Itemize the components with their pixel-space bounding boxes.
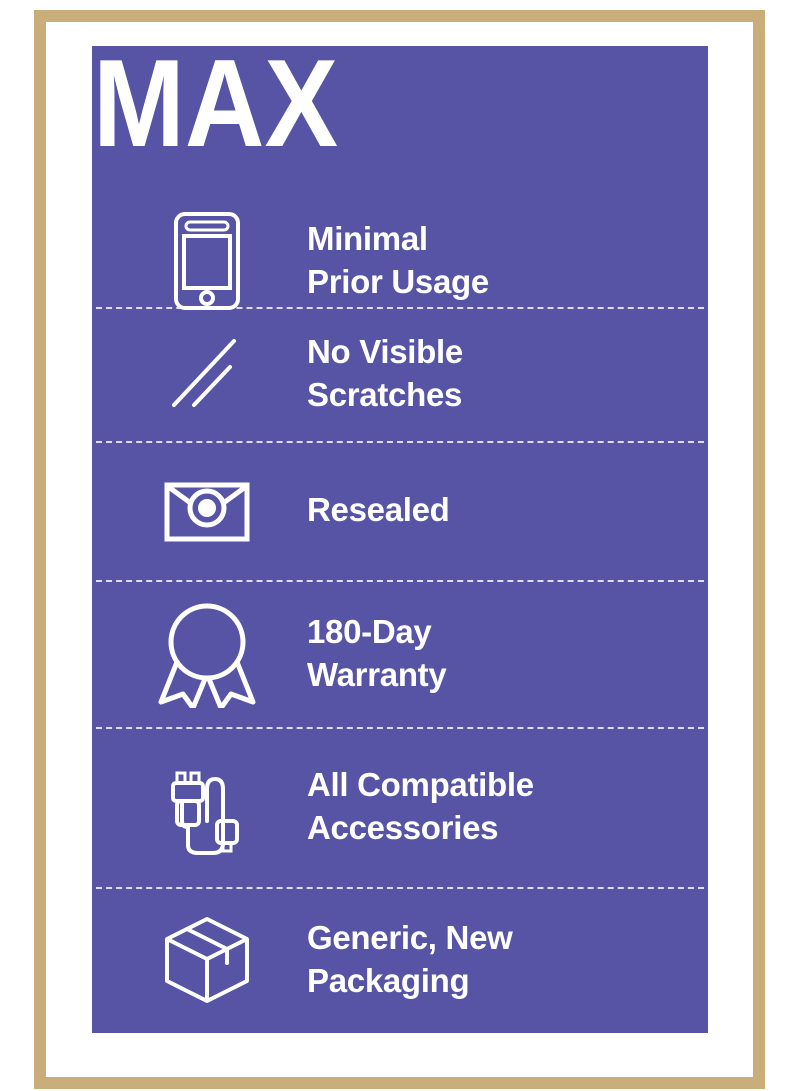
feature-icon-cell (92, 913, 307, 1007)
feature-row-no-visible-scratches: No Visible Scratches (92, 307, 708, 441)
feature-label: All Compatible Accessories (307, 764, 708, 850)
feature-label: Minimal Prior Usage (307, 218, 708, 304)
usb-cable-icon (165, 755, 249, 859)
brand-wordmark-text: MAX (93, 46, 338, 173)
brand-wordmark: MAX (93, 46, 493, 180)
scratch-lines-icon (164, 333, 250, 415)
feature-row-packaging: Generic, New Packaging (92, 887, 708, 1033)
feature-label: 180-Day Warranty (307, 611, 708, 697)
feature-label: No Visible Scratches (307, 331, 708, 417)
feature-row-accessories: All Compatible Accessories (92, 727, 708, 887)
feature-label: Resealed (307, 489, 708, 532)
purple-feature-panel: MAX Minimal Prior Usage (92, 46, 708, 1033)
feature-icon-cell (92, 475, 307, 547)
shipping-box-icon (161, 913, 253, 1007)
sealed-envelope-icon (162, 475, 252, 547)
feature-icon-cell (92, 755, 307, 859)
feature-row-warranty: 180-Day Warranty (92, 580, 708, 727)
feature-label: Generic, New Packaging (307, 917, 708, 1003)
smartphone-icon (171, 209, 243, 313)
award-ribbon-icon (153, 600, 261, 708)
feature-icon-cell (92, 209, 307, 313)
feature-icon-cell (92, 600, 307, 708)
feature-row-resealed: Resealed (92, 441, 708, 580)
feature-icon-cell (92, 333, 307, 415)
poster-canvas: MAX Minimal Prior Usage (0, 0, 800, 1091)
